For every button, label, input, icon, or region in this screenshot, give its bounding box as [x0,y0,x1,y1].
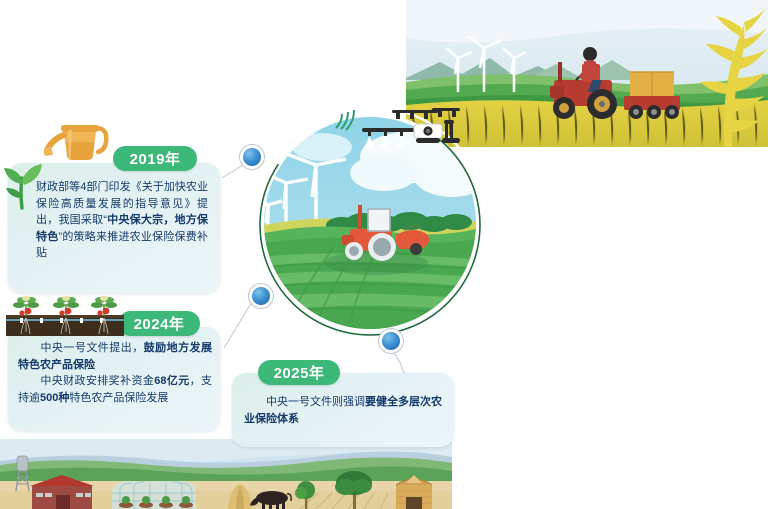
watering-can-icon [44,108,110,164]
card-2024-p2-run-1: 中央财政安排奖补资金 [40,375,154,387]
card-2024-p2-run-2-bold: 68亿元 [154,375,189,387]
card-2025-run-1: 中央一号文件则强调 [266,396,365,408]
card-2024-text: 中央一号文件提出，鼓励地方发展特色农产品保险 中央财政安排奖补资金68亿元，支持… [18,340,212,406]
hydroponic-plants-icon [4,296,126,336]
year-badge-2024[interactable]: 2024年 [118,311,200,336]
card-2024-p2-run-4-bold: 500种 [40,392,69,404]
timeline-dot-2019[interactable] [243,148,261,166]
card-2024-p2-run-5: 特色农产品保险发展 [69,392,168,404]
spraying-drone-icon [332,106,460,154]
timeline-card-2024[interactable]: 中央一号文件提出，鼓励地方发展特色农产品保险 中央财政安排奖补资金68亿元，支持… [8,327,220,431]
card-2024-p1-run-1: 中央一号文件提出， [40,342,144,354]
sprout-icon [0,158,44,210]
infographic-canvas: 财政部等4部门印发《关于加快农业保险高质量发展的指导意见》提出，我国采取“中央保… [0,0,768,509]
year-badge-2025[interactable]: 2025年 [258,360,340,385]
year-badge-2019[interactable]: 2019年 [113,146,197,171]
timeline-dot-2025[interactable] [382,332,400,350]
card-2019-text: 财政部等4部门印发《关于加快农业保险高质量发展的指导意见》提出，我国采取“中央保… [36,179,208,262]
card-2019-run-3: ”的策略来推进农业保险保费补贴 [36,231,208,260]
card-2025-text: 中央一号文件则强调要健全多层次农业保险体系 [244,394,442,427]
timeline-dot-2024[interactable] [252,287,270,305]
